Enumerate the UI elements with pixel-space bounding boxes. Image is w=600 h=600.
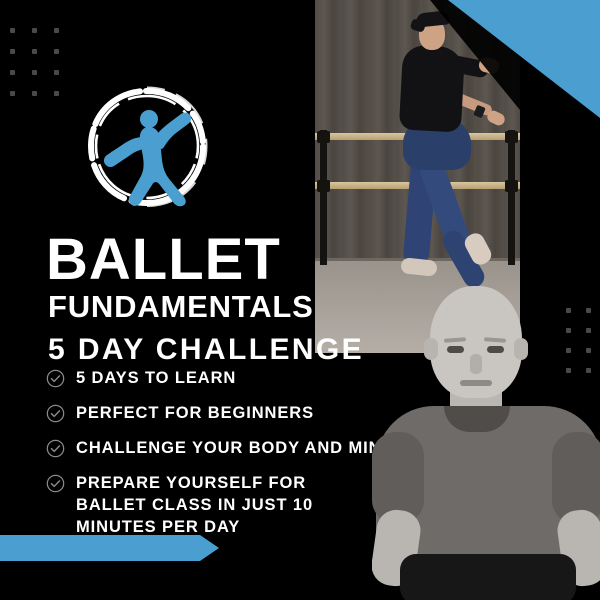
dot — [10, 70, 15, 75]
list-item: 5 DAYS TO LEARN — [46, 368, 416, 390]
dot — [32, 70, 37, 75]
dot-grid-top-left — [10, 28, 76, 112]
dot — [54, 70, 59, 75]
dancer-shoe-back — [400, 257, 437, 277]
barre-clip — [317, 131, 330, 143]
portrait-lap — [400, 554, 576, 600]
check-circle-icon — [46, 474, 65, 493]
check-circle-icon — [46, 404, 65, 423]
instructor-portrait — [372, 282, 600, 600]
dot — [54, 28, 59, 33]
list-item-label: PREPARE YOURSELF FOR BALLET CLASS IN JUS… — [76, 473, 376, 539]
barre-post-right — [508, 130, 515, 265]
portrait-eye-right — [487, 346, 504, 353]
dot — [32, 49, 37, 54]
challenge-title: 5 DAY CHALLENGE — [48, 335, 364, 365]
barre-clip — [505, 180, 518, 192]
dot — [10, 49, 15, 54]
list-item: CHALLENGE YOUR BODY AND MIND — [46, 438, 416, 460]
dot — [10, 28, 15, 33]
benefits-list: 5 DAYS TO LEARN PERFECT FOR BEGINNERS CH… — [46, 368, 416, 552]
title-block: BALLET FUNDAMENTALS 5 DAY CHALLENGE — [46, 232, 364, 365]
list-item: PREPARE YOURSELF FOR BALLET CLASS IN JUS… — [46, 473, 416, 539]
list-item-label: PERFECT FOR BEGINNERS — [76, 403, 314, 425]
ballet-challenge-poster: BALLET FUNDAMENTALS 5 DAY CHALLENGE 5 DA… — [0, 0, 600, 600]
barre-clip — [317, 180, 330, 192]
dot — [32, 28, 37, 33]
portrait-eye-left — [447, 346, 464, 353]
check-circle-icon — [46, 369, 65, 388]
dot — [54, 91, 59, 96]
list-item-label: CHALLENGE YOUR BODY AND MIND — [76, 438, 394, 460]
dancer-figure — [367, 6, 487, 296]
ballet-dancer-logo — [86, 86, 208, 208]
list-item: PERFECT FOR BEGINNERS — [46, 403, 416, 425]
page-title: BALLET — [46, 232, 364, 287]
portrait-mouth — [460, 380, 492, 386]
dot — [10, 91, 15, 96]
portrait-nose — [470, 354, 482, 374]
barre-clip — [505, 131, 518, 143]
portrait-ear-right — [514, 338, 528, 360]
list-item-label: 5 DAYS TO LEARN — [76, 368, 236, 390]
dot — [54, 49, 59, 54]
portrait-ear-left — [424, 338, 438, 360]
dot — [32, 91, 37, 96]
blue-arrow-banner — [0, 535, 219, 561]
page-subtitle: FUNDAMENTALS — [48, 291, 364, 322]
check-circle-icon — [46, 439, 65, 458]
